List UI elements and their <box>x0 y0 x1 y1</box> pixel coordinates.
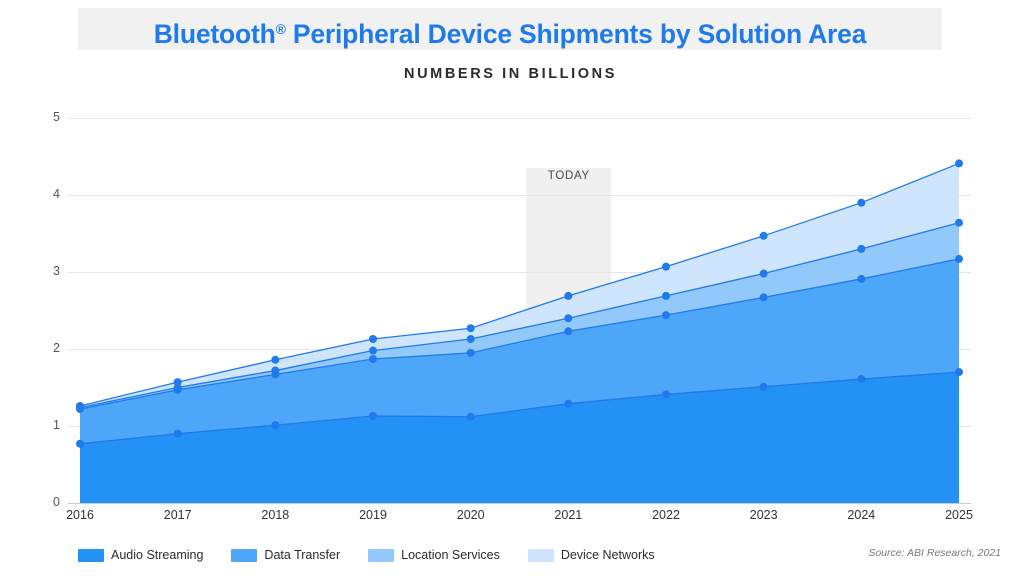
x-axis-tick-label: 2018 <box>261 508 289 522</box>
data-point-marker <box>955 159 963 167</box>
y-axis-tick-label: 4 <box>20 187 60 201</box>
chart-title-text-part1: Bluetooth <box>154 19 276 49</box>
y-axis-tick-label: 3 <box>20 264 60 278</box>
legend-label: Data Transfer <box>264 548 340 562</box>
legend-swatch-icon <box>528 549 554 562</box>
legend-swatch-icon <box>368 549 394 562</box>
data-point-marker <box>564 314 572 322</box>
chart-title-text-part2: Peripheral Device Shipments by Solution … <box>286 19 867 49</box>
data-point-marker <box>467 324 475 332</box>
x-axis-tick-label: 2017 <box>164 508 192 522</box>
legend-label: Device Networks <box>561 548 655 562</box>
data-point-marker <box>174 430 182 438</box>
chart-legend: Audio StreamingData TransferLocation Ser… <box>78 545 683 565</box>
x-axis-tick-label: 2025 <box>945 508 973 522</box>
x-axis-tick-label: 2023 <box>750 508 778 522</box>
x-axis-ticks: 2016201720182019202020212022202320242025 <box>68 508 971 528</box>
data-point-marker <box>662 390 670 398</box>
y-axis-tick-label: 5 <box>20 110 60 124</box>
data-point-marker <box>467 335 475 343</box>
data-point-marker <box>955 368 963 376</box>
data-point-marker <box>467 413 475 421</box>
data-point-marker <box>271 367 279 375</box>
data-point-marker <box>564 400 572 408</box>
plot-area: TODAY <box>68 118 971 503</box>
x-axis-tick-label: 2019 <box>359 508 387 522</box>
data-point-marker <box>467 349 475 357</box>
data-point-marker <box>662 263 670 271</box>
data-point-marker <box>760 293 768 301</box>
registered-trademark-icon: ® <box>276 21 286 37</box>
x-axis-tick-label: 2022 <box>652 508 680 522</box>
data-point-marker <box>857 245 865 253</box>
data-point-marker <box>369 335 377 343</box>
x-axis-tick-label: 2024 <box>847 508 875 522</box>
x-axis-tick-label: 2021 <box>554 508 582 522</box>
y-axis-tick-label: 0 <box>20 495 60 509</box>
legend-swatch-icon <box>78 549 104 562</box>
x-axis-line <box>68 503 971 504</box>
x-axis-tick-label: 2016 <box>66 508 94 522</box>
legend-item[interactable]: Device Networks <box>528 548 655 562</box>
chart-subtitle: NUMBERS IN BILLIONS <box>0 66 1021 82</box>
data-point-marker <box>271 421 279 429</box>
legend-item[interactable]: Location Services <box>368 548 500 562</box>
data-point-marker <box>857 199 865 207</box>
data-point-marker <box>369 412 377 420</box>
data-point-marker <box>174 378 182 386</box>
legend-label: Location Services <box>401 548 500 562</box>
data-point-marker <box>76 402 84 410</box>
series-svg <box>68 118 971 503</box>
chart-container: Bluetooth® Peripheral Device Shipments b… <box>0 0 1021 582</box>
data-point-marker <box>955 255 963 263</box>
data-point-marker <box>955 219 963 227</box>
y-axis-tick-label: 1 <box>20 418 60 432</box>
data-point-marker <box>662 311 670 319</box>
data-point-marker <box>564 292 572 300</box>
y-axis-tick-label: 2 <box>20 341 60 355</box>
source-note: Source: ABI Research, 2021 <box>868 547 1001 559</box>
legend-label: Audio Streaming <box>111 548 203 562</box>
data-point-marker <box>662 292 670 300</box>
chart-title: Bluetooth® Peripheral Device Shipments b… <box>78 8 942 50</box>
data-point-marker <box>857 275 865 283</box>
legend-item[interactable]: Audio Streaming <box>78 548 203 562</box>
data-point-marker <box>271 356 279 364</box>
today-annotation-label: TODAY <box>526 170 611 182</box>
data-point-marker <box>369 347 377 355</box>
data-point-marker <box>760 383 768 391</box>
legend-item[interactable]: Data Transfer <box>231 548 340 562</box>
data-point-marker <box>76 440 84 448</box>
y-axis-ticks: 012345 <box>16 118 60 503</box>
x-axis-tick-label: 2020 <box>457 508 485 522</box>
data-point-marker <box>857 375 865 383</box>
legend-swatch-icon <box>231 549 257 562</box>
data-point-marker <box>369 355 377 363</box>
data-point-marker <box>564 327 572 335</box>
data-point-marker <box>760 232 768 240</box>
data-point-marker <box>760 270 768 278</box>
